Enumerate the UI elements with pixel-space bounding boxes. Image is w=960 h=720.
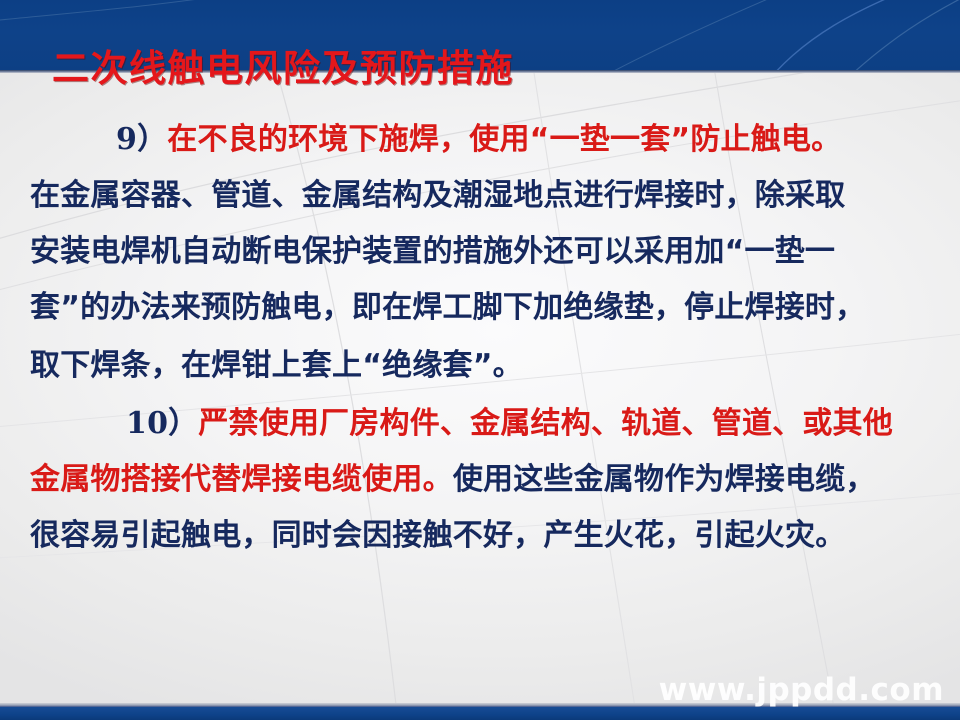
text-run-blue: 取下焊条，在焊钳上套上“绝缘套”。: [30, 348, 523, 383]
text-line: 9）在不良的环境下施焊，使用“一垫一套”防止触电。: [30, 112, 936, 168]
text-line: 10）严禁使用厂房构件、金属结构、轨道、管道、或其他: [30, 396, 936, 452]
text-line: 很容易引起触电，同时会因接触不好，产生火花，引起火灾。: [30, 508, 936, 564]
text-line: 取下焊条，在焊钳上套上“绝缘套”。: [30, 336, 936, 396]
slide-canvas: 二次线触电风险及预防措施 9）在不良的环境下施焊，使用“一垫一套”防止触电。在金…: [0, 0, 960, 720]
slide-body-text: 9）在不良的环境下施焊，使用“一垫一套”防止触电。在金属容器、管道、金属结构及潮…: [30, 112, 936, 564]
list-marker: 9）: [116, 122, 167, 157]
text-run-red: 严禁使用厂房构件、金属结构、轨道、管道、或其他: [198, 406, 893, 441]
text-run-blue: 很容易引起触电，同时会因接触不好，产生火花，引起火灾。: [30, 518, 845, 553]
text-run-blue: 使用这些金属物作为焊接电缆，: [453, 462, 876, 497]
text-run-red: 在不良的环境下施焊，使用“一垫一套”防止触电。: [167, 122, 841, 157]
text-run-blue: 在金属容器、管道、金属结构及潮湿地点进行焊接时，除采取: [30, 178, 845, 213]
list-marker: 10）: [126, 406, 198, 441]
text-line: 金属物搭接代替焊接电缆使用。使用这些金属物作为焊接电缆，: [30, 452, 936, 508]
text-run-red: 金属物搭接代替焊接电缆使用。: [30, 462, 453, 497]
page-title: 二次线触电风险及预防措施: [52, 38, 514, 92]
footer-band: [0, 707, 960, 720]
text-line: 安装电焊机自动断电保护装置的措施外还可以采用加“一垫一: [30, 224, 936, 280]
text-run-blue: 安装电焊机自动断电保护装置的措施外还可以采用加“一垫一: [30, 234, 835, 269]
text-line: 套”的办法来预防触电，即在焊工脚下加绝缘垫，停止焊接时，: [30, 280, 936, 336]
site-watermark: www.jppdd.com: [659, 672, 944, 708]
text-run-blue: 套”的办法来预防触电，即在焊工脚下加绝缘垫，停止焊接时，: [30, 290, 865, 325]
text-line: 在金属容器、管道、金属结构及潮湿地点进行焊接时，除采取: [30, 168, 936, 224]
